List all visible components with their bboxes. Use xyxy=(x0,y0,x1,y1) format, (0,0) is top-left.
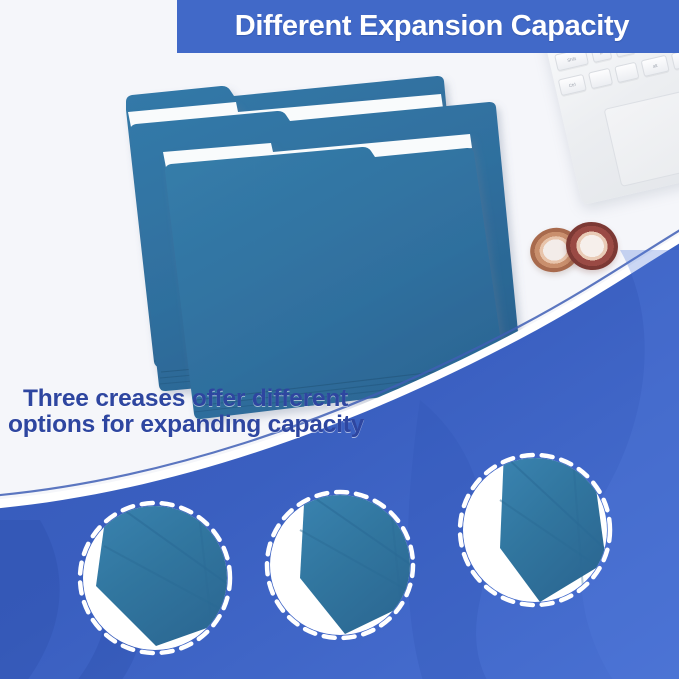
crease-detail-3 xyxy=(460,444,610,605)
detail-circles-group xyxy=(0,0,679,679)
crease-detail-2 xyxy=(267,478,432,638)
crease-detail-1 xyxy=(80,486,252,653)
product-marketing-image: Caps A S D Shift Z X C Ctrl xyxy=(0,0,679,679)
